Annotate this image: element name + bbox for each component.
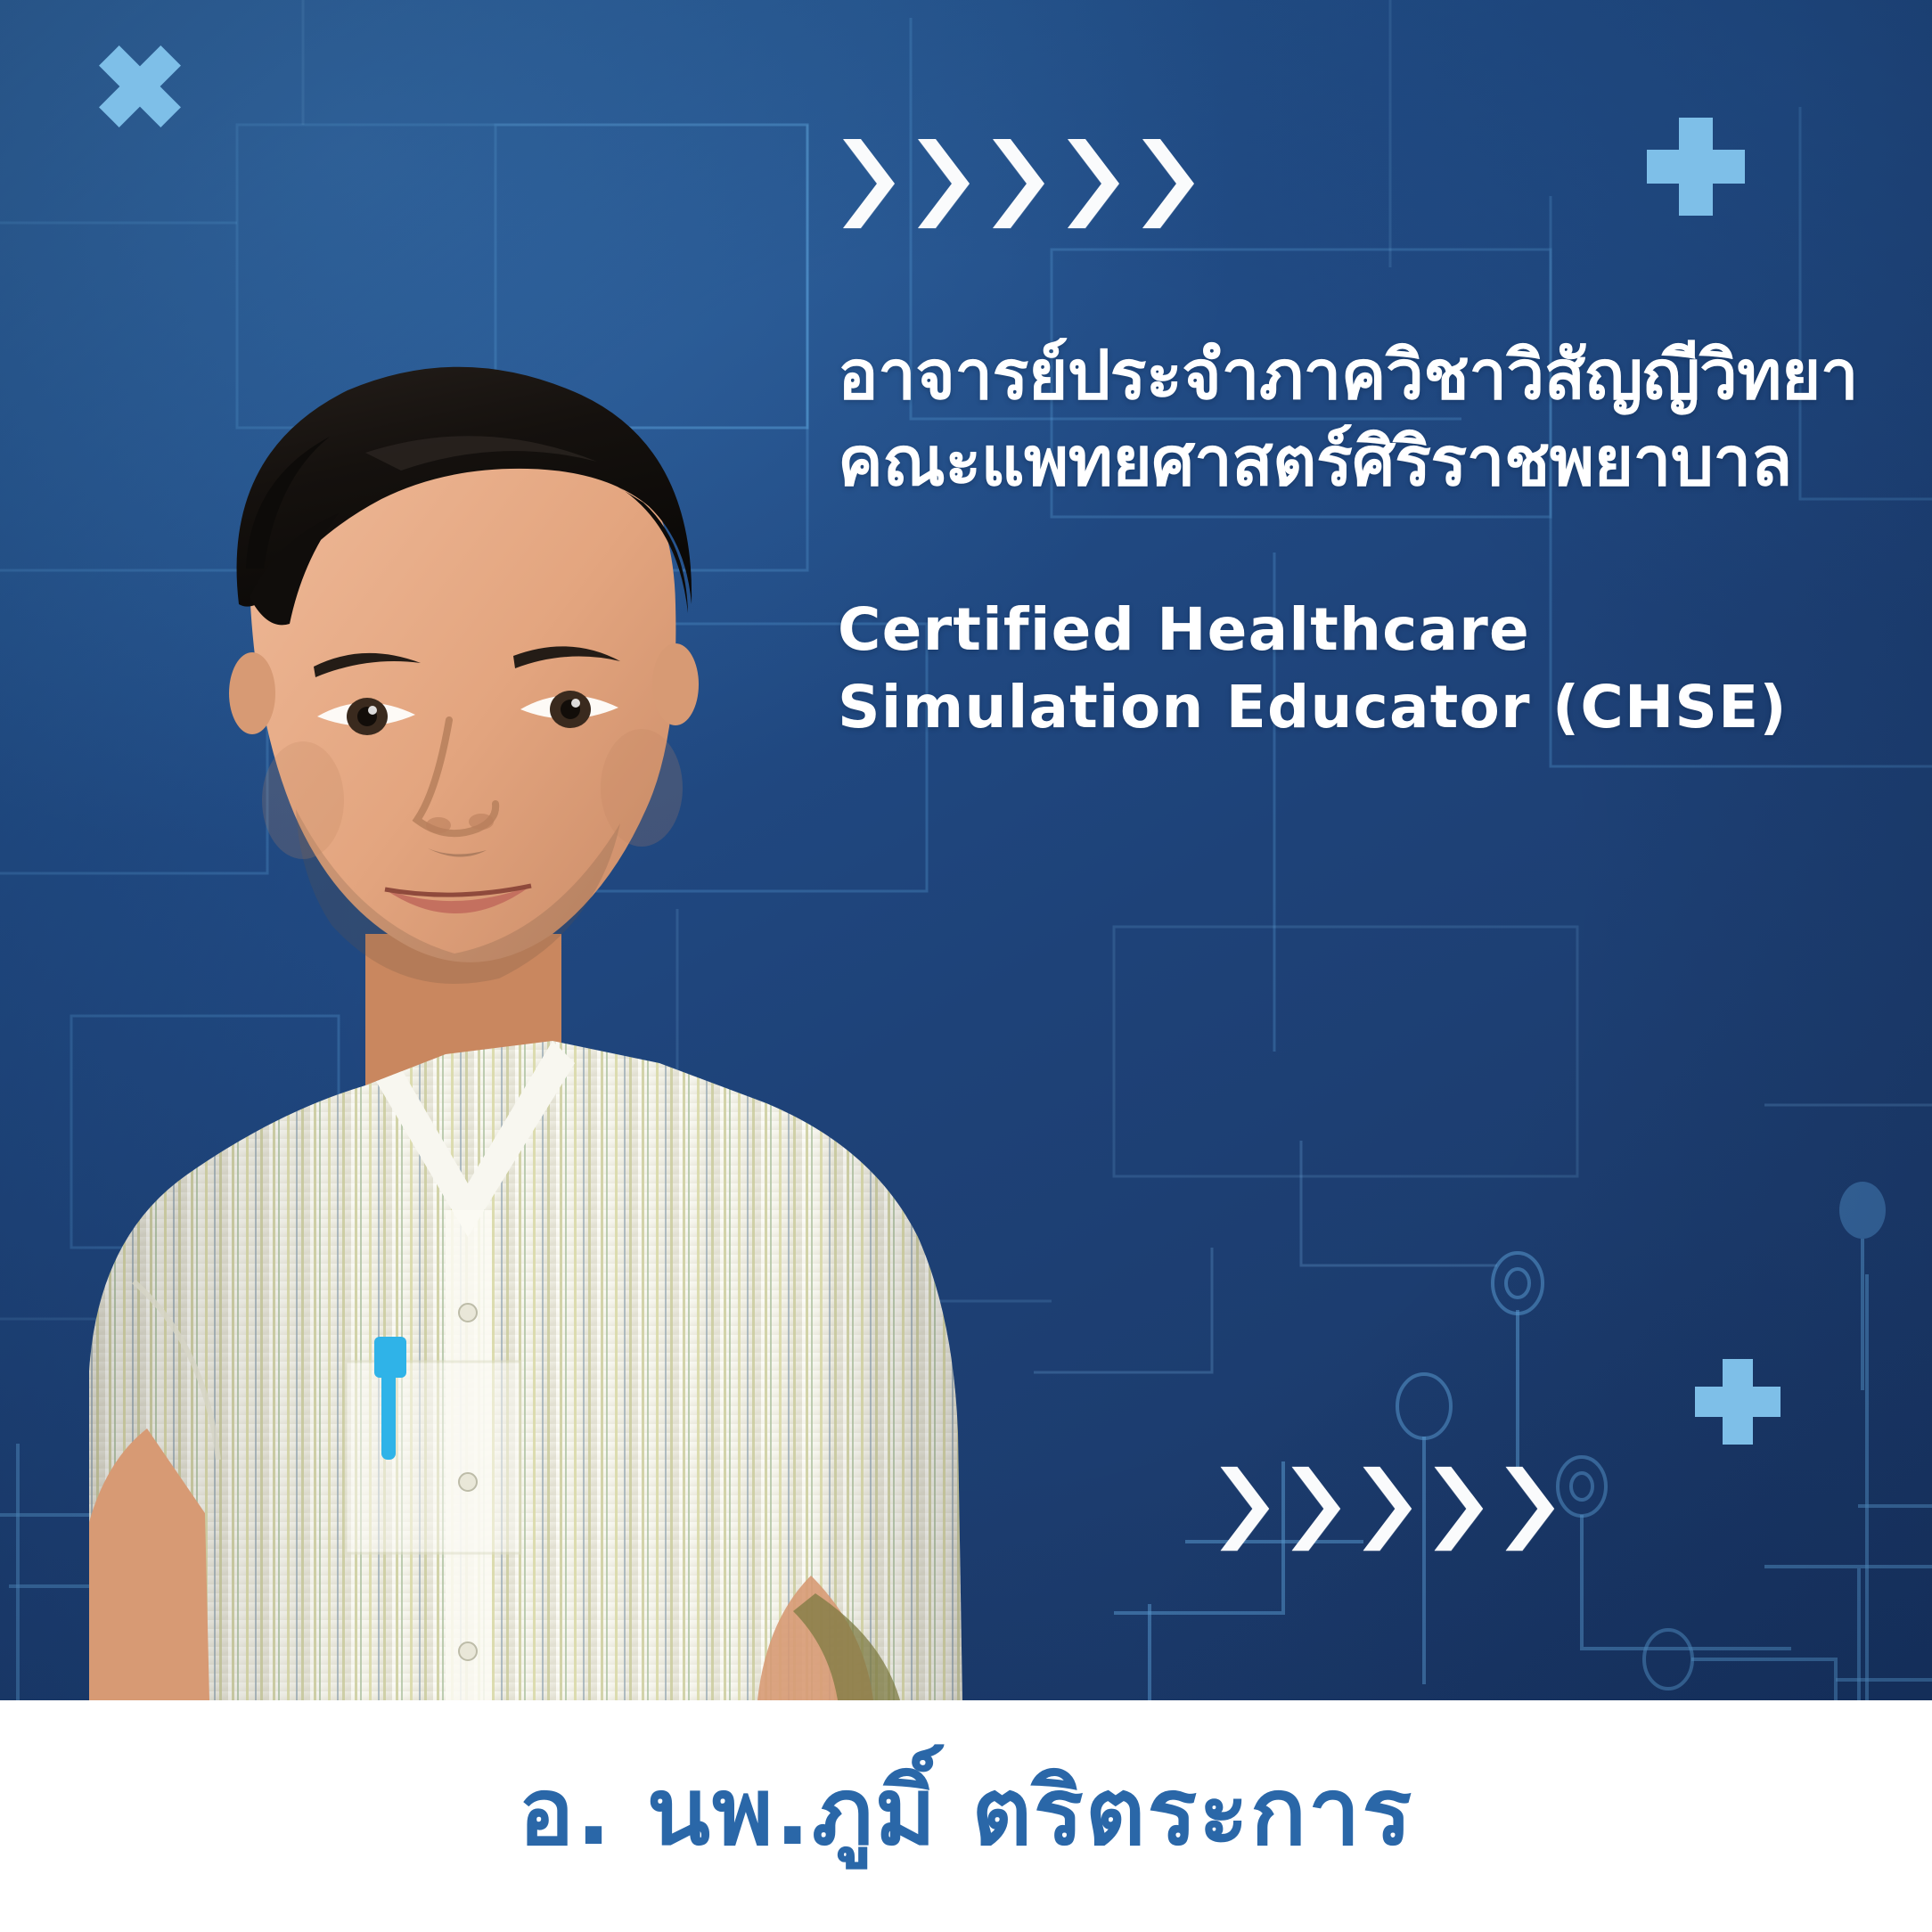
background-vignette xyxy=(0,0,1932,1932)
chevron-right-icon xyxy=(1285,1463,1344,1554)
plus-icon-top-right xyxy=(1647,118,1745,216)
chevron-right-icon xyxy=(986,135,1048,232)
chevron-group-bottom xyxy=(1214,1463,1558,1554)
chevron-right-icon xyxy=(1428,1463,1486,1554)
chevron-right-icon xyxy=(1356,1463,1415,1554)
chevron-right-icon xyxy=(911,135,973,232)
thai-title-line-1: อาจารย์ประจำภาควิชาวิสัญญีวิทยา xyxy=(838,332,1862,418)
plus-icon-bottom-right xyxy=(1695,1359,1781,1445)
chevron-group-top xyxy=(836,135,1198,232)
speaker-name: อ. นพ.ภูมิ์ ตริตระการ xyxy=(519,1738,1414,1885)
text-block: อาจารย์ประจำภาควิชาวิสัญญีวิทยา คณะแพทยศ… xyxy=(838,332,1862,747)
thai-title-line-2: คณะแพทยศาสตร์ศิริราชพยาบาล xyxy=(838,418,1862,504)
chevron-right-icon xyxy=(1060,135,1123,232)
chevron-right-icon xyxy=(1499,1463,1558,1554)
chevron-right-icon xyxy=(1214,1463,1273,1554)
footer-name-bar: อ. นพ.ภูมิ์ ตริตระการ xyxy=(0,1700,1932,1932)
speaker-card: อาจารย์ประจำภาควิชาวิสัญญีวิทยา คณะแพทยศ… xyxy=(0,0,1932,1932)
english-title-block: Certified Healthcare Simulation Educator… xyxy=(838,591,1862,748)
english-title-line-2: Simulation Educator (CHSE) xyxy=(838,668,1862,747)
chevron-right-icon xyxy=(836,135,898,232)
english-title-line-1: Certified Healthcare xyxy=(838,591,1862,669)
chevron-right-icon xyxy=(1135,135,1198,232)
